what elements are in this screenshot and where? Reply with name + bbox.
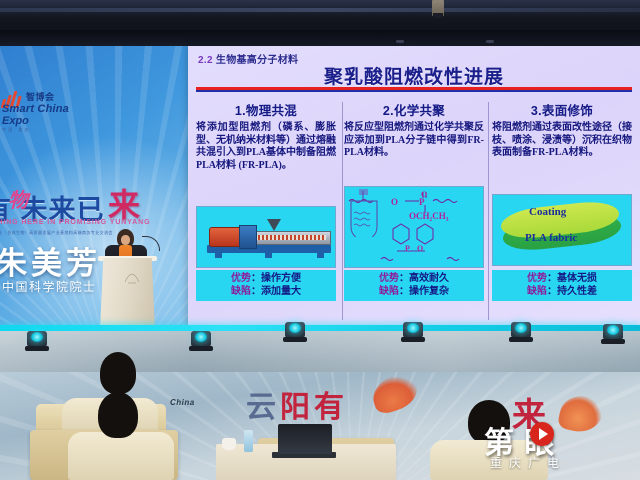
banner-headline-red: 阳有 <box>280 391 348 424</box>
stage-light <box>188 329 214 355</box>
light-base <box>25 346 49 351</box>
ceiling <box>0 0 640 46</box>
water-bottle <box>244 430 253 452</box>
extruder-illustration <box>205 219 333 257</box>
advantage-value: 操作方便 <box>261 273 301 284</box>
expo-logo-en1: Smart China <box>2 103 69 115</box>
stage-light <box>24 329 50 355</box>
advantage-label: 优势 <box>231 273 251 284</box>
laptop-screen <box>278 424 332 454</box>
slide-column-chemical-copolymerization: 2.化学共聚 将反应型阻燃剂通过化学共聚反应添加到PLA分子链中得到FR-PLA… <box>342 98 486 326</box>
watermark-subtitle: 重庆广电 <box>490 454 566 471</box>
expo-logo-sub: 中 国 · 重 庆 <box>2 127 29 133</box>
machine-barrel <box>249 231 331 245</box>
expo-logo-cn: 智博会 <box>26 90 55 103</box>
podium-emblem-icon <box>122 272 142 286</box>
ceiling-light-dot <box>486 40 494 43</box>
stage-light <box>282 320 308 346</box>
microphone-icon <box>142 236 160 258</box>
advantage-value: 基体无损 <box>557 273 597 284</box>
drawback-label: 缺陷 <box>231 286 251 297</box>
advantage-value: 高效耐久 <box>409 273 449 284</box>
machine-gearbox <box>239 225 257 249</box>
svg-text:P: P <box>405 244 410 253</box>
drawback-row: 缺陷：持久性差 <box>492 285 632 298</box>
light-lens <box>31 332 43 342</box>
light-base <box>401 337 425 342</box>
chemistry-illustration: O P O OCH₂CH₃ P O <box>347 189 481 265</box>
column-heading: 1.物理共混 <box>194 100 338 119</box>
machine-leg <box>317 253 324 258</box>
slogan-english: SOMETHING HERE IN PROMISING YUNYANG <box>0 219 150 226</box>
ceiling-projector <box>432 0 444 16</box>
slide-columns: 1.物理共混 将添加型阻燃剂（磷系、膨胀型、无机纳米材料等）通过熔融共混引入到P… <box>194 98 634 326</box>
advantage-row: 优势：高效耐久 <box>344 272 484 285</box>
speaker-name: 朱美芳 <box>0 238 101 283</box>
ceiling-band <box>0 8 640 12</box>
drawback-value: 添加量大 <box>261 286 301 297</box>
machine-leg <box>215 253 222 258</box>
drawback-row: 缺陷：添加量大 <box>196 285 336 298</box>
light-lens <box>515 323 527 333</box>
drawback-label: 缺陷 <box>527 286 547 297</box>
drawback-value: 操作复杂 <box>409 286 449 297</box>
banner-headline-gray: 云 <box>246 391 280 424</box>
slide-title: 聚乳酸阻燃改性进展 <box>188 62 640 89</box>
light-base <box>189 346 213 351</box>
audience-shoulders <box>68 432 174 480</box>
drawback-label: 缺陷 <box>379 286 399 297</box>
reactor-flask-icon <box>347 189 381 237</box>
column-pros-cons: 优势：高效耐久 缺陷：操作复杂 <box>344 270 484 301</box>
slide-column-physical-blending: 1.物理共混 将添加型阻燃剂（磷系、膨胀型、无机纳米材料等）通过熔融共混引入到P… <box>194 98 338 326</box>
audience-head <box>98 392 138 438</box>
light-lens <box>289 323 301 333</box>
banner-headline: 云阳有 <box>246 382 348 426</box>
column-body: 将阻燃剂通过表面改性途径（接枝、喷涂、浸渍等）沉积在织物表面制备FR-PLA材料… <box>490 122 634 160</box>
stage-light <box>600 322 626 348</box>
tea-cup <box>222 438 236 450</box>
light-lens <box>607 325 619 335</box>
speaker-title: 中国科学院院士 <box>2 278 97 295</box>
column-body: 将反应型阻燃剂通过化学共聚反应添加到PLA分子链中得到FR-PLA材料。 <box>342 122 486 160</box>
column-pros-cons: 优势：操作方便 缺陷：添加量大 <box>196 270 336 301</box>
light-lens <box>195 332 207 342</box>
column-divider <box>488 102 489 320</box>
advantage-row: 优势：基体无损 <box>492 272 632 285</box>
banner-china-text: China <box>170 398 195 407</box>
svg-text:O: O <box>417 244 423 253</box>
stage-light <box>400 320 426 346</box>
smart-china-expo-logo: 智博会 Smart China Expo 中 国 · 重 庆 <box>2 88 98 134</box>
drawback-value: 持久性差 <box>557 286 597 297</box>
slogan-fineprint: 云阳县生物产业（合成生物）高质量发展产业基地和高端商务专业交流会 <box>0 230 113 236</box>
advantage-label: 优势 <box>379 273 399 284</box>
machine-leg <box>265 253 272 258</box>
slide-rule-blue <box>196 90 632 92</box>
coating-illustration: Coating PLA fabric <box>499 199 627 251</box>
column-body: 将添加型阻燃剂（磷系、膨胀型、无机纳米材料等）通过熔融共混引入到PLA基体中制备… <box>194 122 338 172</box>
column-pros-cons: 优势：基体无损 缺陷：持久性差 <box>492 270 632 301</box>
advantage-row: 优势：操作方便 <box>196 272 336 285</box>
svg-text:OCH₂CH₃: OCH₂CH₃ <box>409 211 449 221</box>
audience-head <box>100 352 136 394</box>
slide-column-surface-modification: 3.表面修饰 将阻燃剂通过表面改性途径（接枝、喷涂、浸渍等）沉积在织物表面制备F… <box>490 98 634 326</box>
figure-chemical-structure: O P O OCH₂CH₃ P O <box>344 186 484 268</box>
light-base <box>601 339 625 344</box>
light-lens <box>407 323 419 333</box>
figure-coating-diagram: Coating PLA fabric <box>492 194 632 266</box>
slogan-pink-char: 物 <box>8 184 28 213</box>
floor-reflection <box>0 331 640 377</box>
speaker-face <box>121 235 130 245</box>
broadcaster-watermark: 第 眼 重庆广电 <box>484 418 634 474</box>
column-heading: 2.化学共聚 <box>342 100 486 119</box>
stage-floor <box>0 331 640 377</box>
ceiling-soffit <box>0 30 640 46</box>
podium <box>100 258 155 330</box>
stage-light <box>508 320 534 346</box>
figure-extruder-machine <box>196 206 336 268</box>
svg-text:O: O <box>421 190 427 199</box>
column-heading: 3.表面修饰 <box>490 100 634 119</box>
play-button-icon <box>530 422 554 446</box>
fabric-label: PLA fabric <box>525 232 577 244</box>
light-base <box>283 337 307 342</box>
svg-text:O: O <box>391 197 398 207</box>
screenshot-root: 智博会 Smart China Expo 中 国 · 重 庆 有 未来已 物 来… <box>0 0 640 480</box>
presentation-slide: 2.2 生物基高分子材料 聚乳酸阻燃改性进展 1.物理共混 将添加型阻燃剂（磷系… <box>188 46 640 329</box>
advantage-label: 优势 <box>527 273 547 284</box>
machine-hopper <box>267 219 281 231</box>
drawback-row: 缺陷：操作复杂 <box>344 285 484 298</box>
light-base <box>509 337 533 342</box>
expo-logo-en2: Expo <box>2 115 29 127</box>
ceiling-light-dot <box>396 40 404 43</box>
coating-label: Coating <box>529 206 566 218</box>
